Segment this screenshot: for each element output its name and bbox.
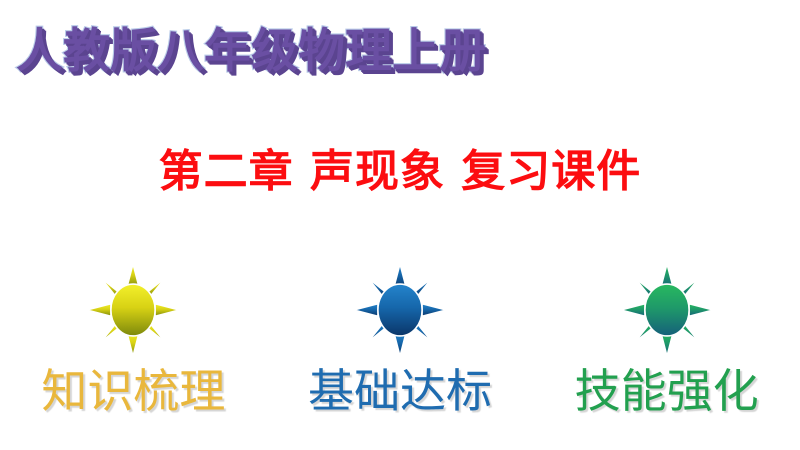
section-card-label: 技能强化 bbox=[575, 366, 759, 416]
section-card-knowledge[interactable]: 知识梳理 bbox=[8, 262, 258, 416]
section-card-basics[interactable]: 基础达标 bbox=[275, 262, 525, 416]
page-title: 人教版八年级物理上册 bbox=[16, 20, 486, 84]
chapter-subtitle: 第二章 声现象 复习课件 bbox=[0, 142, 800, 202]
sun-icon bbox=[352, 262, 448, 358]
sun-icon bbox=[619, 262, 715, 358]
section-card-label: 知识梳理 bbox=[41, 366, 225, 416]
section-card-skills[interactable]: 技能强化 bbox=[542, 262, 792, 416]
section-card-row: 知识梳理 bbox=[0, 262, 800, 437]
section-card-label: 基础达标 bbox=[308, 366, 492, 416]
sun-icon bbox=[85, 262, 181, 358]
slide-canvas: 人教版八年级物理上册 第二章 声现象 复习课件 bbox=[0, 0, 800, 450]
